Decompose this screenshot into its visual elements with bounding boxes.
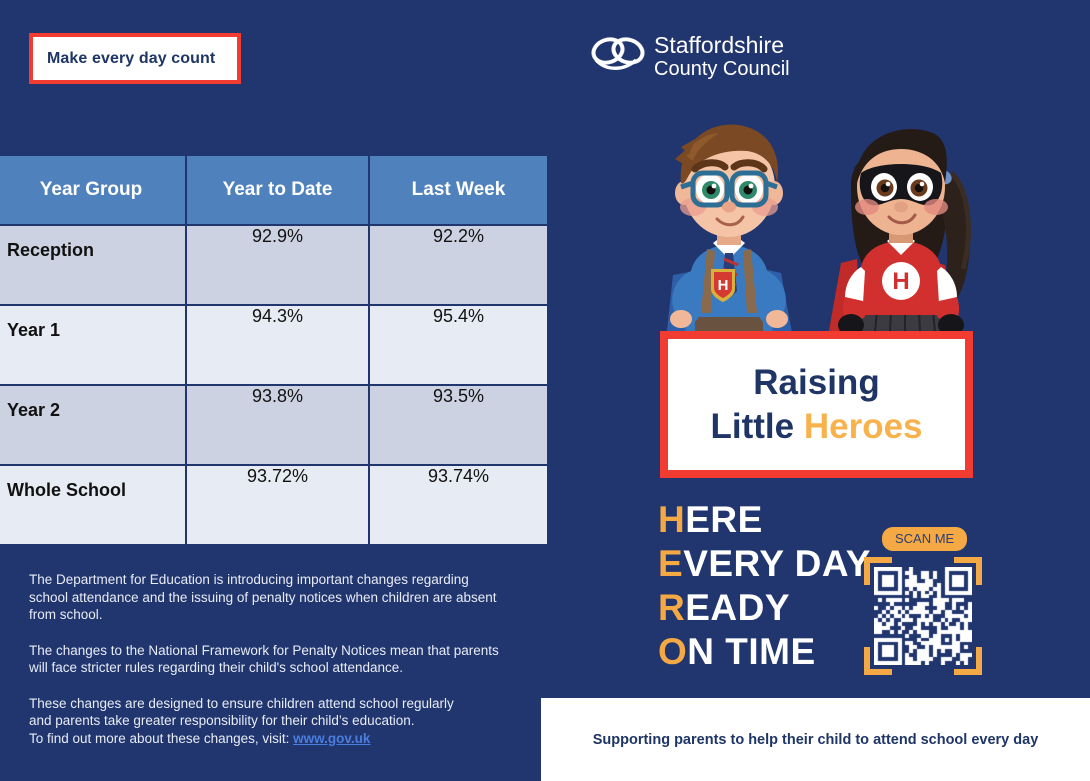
hero-word-here: ERE — [685, 499, 763, 540]
staffordshire-knot-icon — [590, 33, 646, 80]
hero-word-every-day: VERY DAY — [683, 543, 871, 584]
qr-code-frame[interactable] — [864, 557, 982, 675]
table-row: Year 1 94.3% 95.4% — [0, 306, 547, 384]
cell-year-to-date: 92.9% — [187, 226, 368, 304]
hero-acronym-line-every-day: EVERY DAY — [658, 542, 871, 586]
info-paragraph-2: The changes to the National Framework fo… — [29, 642, 499, 677]
hero-word-ready: EADY — [685, 587, 790, 628]
table-header-row: Year Group Year to Date Last Week — [0, 156, 547, 224]
hero-initial-r: R — [658, 587, 685, 628]
hero-acronym: HERE EVERY DAY READY ON TIME — [658, 498, 871, 674]
raising-line-1: Raising — [753, 361, 879, 405]
scan-me-badge: SCAN ME — [882, 527, 967, 551]
attendance-table: Year Group Year to Date Last Week Recept… — [0, 154, 549, 546]
cell-year-group: Whole School — [0, 466, 185, 544]
info-paragraph-1: The Department for Education is introduc… — [29, 571, 499, 624]
table-row: Year 2 93.8% 93.5% — [0, 386, 547, 464]
cell-last-week: 95.4% — [370, 306, 547, 384]
info-paragraph-3-line-3: To find out more about these changes, vi… — [29, 731, 293, 746]
logo-line-2: County Council — [654, 59, 790, 79]
cell-year-group: Year 1 — [0, 306, 185, 384]
logo-line-1: Staffordshire — [654, 34, 790, 57]
info-paragraph-3-line-1: These changes are designed to ensure chi… — [29, 696, 454, 711]
column-header-year-to-date: Year to Date — [187, 156, 368, 224]
cell-year-to-date: 94.3% — [187, 306, 368, 384]
hero-acronym-line-ready: READY — [658, 586, 871, 630]
attendance-information-text: The Department for Education is introduc… — [29, 571, 499, 747]
raising-little-heroes-box: Raising Little Heroes — [660, 331, 973, 478]
gov-uk-link[interactable]: www.gov.uk — [293, 731, 370, 746]
cell-year-group: Year 2 — [0, 386, 185, 464]
table-row: Reception 92.9% 92.2% — [0, 226, 547, 304]
cell-year-group: Reception — [0, 226, 185, 304]
attendance-poster: Make every day count Staffordshire Count… — [0, 0, 1090, 781]
raising-line-2: Little Heroes — [711, 405, 923, 449]
banner-label: Make every day count — [47, 50, 215, 68]
logo-wordmark: Staffordshire County Council — [654, 34, 790, 79]
hero-word-on-time: N TIME — [687, 631, 815, 672]
cell-year-to-date: 93.8% — [187, 386, 368, 464]
cell-last-week: 92.2% — [370, 226, 547, 304]
hero-initial-h: H — [658, 499, 685, 540]
hero-initial-o: O — [658, 631, 687, 672]
qr-code-icon[interactable] — [874, 567, 972, 665]
hero-acronym-line-on-time: ON TIME — [658, 630, 871, 674]
table-row: Whole School 93.72% 93.74% — [0, 466, 547, 544]
cell-last-week: 93.74% — [370, 466, 547, 544]
staffordshire-county-council-logo: Staffordshire County Council — [590, 33, 790, 80]
hero-initial-e: E — [658, 543, 683, 584]
hero-acronym-line-here: HERE — [658, 498, 871, 542]
cell-last-week: 93.5% — [370, 386, 547, 464]
raising-little-text: Little — [711, 407, 804, 446]
column-header-last-week: Last Week — [370, 156, 547, 224]
superhero-children-illustration: H — [655, 103, 975, 353]
column-header-year-group: Year Group — [0, 156, 185, 224]
raising-heroes-text: Heroes — [804, 407, 923, 446]
qr-code-block[interactable]: SCAN ME — [858, 527, 990, 675]
footer-strip: Supporting parents to help their child t… — [541, 698, 1090, 781]
svg-text:H: H — [718, 277, 729, 294]
info-paragraph-3-line-2: and parents take greater responsibility … — [29, 713, 414, 728]
footer-text: Supporting parents to help their child t… — [593, 732, 1039, 748]
svg-text:H: H — [892, 268, 909, 295]
cell-year-to-date: 93.72% — [187, 466, 368, 544]
make-every-day-count-banner: Make every day count — [29, 33, 241, 84]
info-paragraph-3: These changes are designed to ensure chi… — [29, 695, 499, 748]
